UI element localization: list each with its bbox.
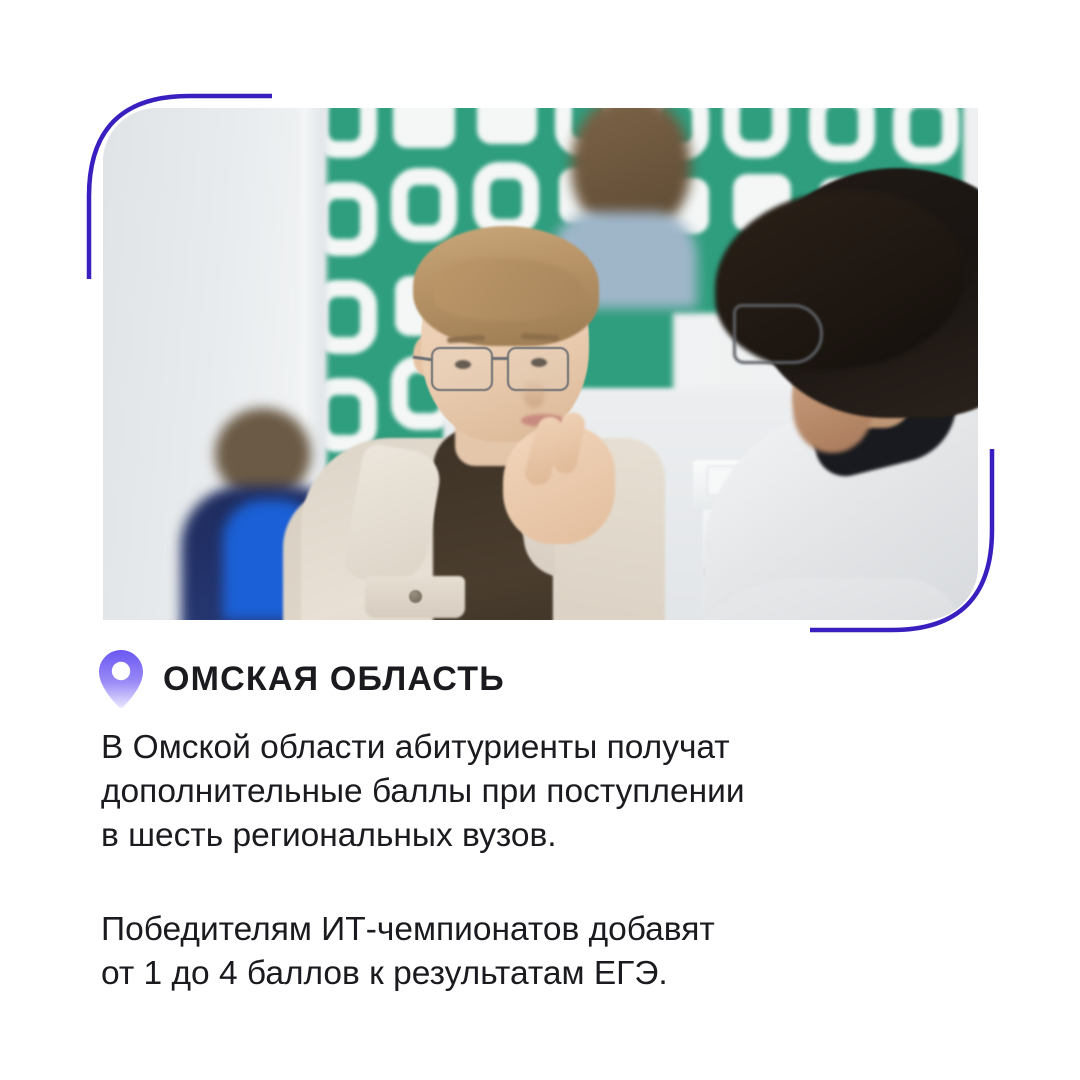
paragraph-1: В Омской области абитуриенты получат доп… (101, 726, 941, 858)
right-person-glasses-icon (733, 304, 823, 364)
hero-photo (103, 108, 978, 620)
paragraph-2: Победителям ИТ-чемпионатов добавят от 1 … (101, 908, 941, 996)
banner-pattern-shape (393, 108, 455, 148)
location-title-row: ОМСКАЯ ОБЛАСТЬ (99, 650, 505, 708)
banner-pattern-shape (893, 108, 959, 164)
banner-pattern-shape (477, 108, 537, 144)
banner-pattern-shape (723, 108, 789, 158)
map-pin-icon (99, 650, 143, 708)
infographic-card: ОМСКАЯ ОБЛАСТЬ В Омской области абитурие… (0, 0, 1080, 1080)
banner-pattern-shape (473, 162, 539, 236)
student-glasses-icon (425, 345, 599, 393)
glasses-lens-left (431, 347, 493, 391)
location-title: ОМСКАЯ ОБЛАСТЬ (163, 662, 505, 696)
body-text-block: В Омской области абитуриенты получат доп… (101, 726, 941, 996)
banner-pattern-shape (809, 108, 875, 162)
banner-pattern-shape (391, 168, 457, 242)
glasses-bridge (493, 357, 509, 360)
student-nose (523, 378, 545, 408)
student-button (409, 590, 422, 603)
photo-scene (103, 108, 978, 620)
